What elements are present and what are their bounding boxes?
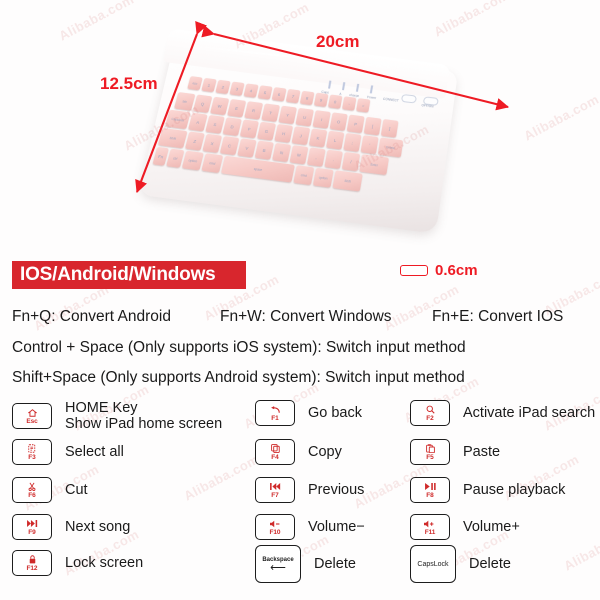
- fn-convert-android: Fn+Q: Convert Android: [12, 308, 220, 326]
- shortcut-label-primary: Copy: [308, 444, 342, 460]
- keycap-esc[interactable]: Esc: [12, 403, 52, 429]
- keycap-fn-label: F3: [28, 454, 35, 461]
- shortcut-row: F10Volume−: [255, 514, 365, 540]
- note-shift-space: Shift+Space (Only supports Android syste…: [12, 369, 465, 387]
- shortcut-description: Previous: [308, 482, 364, 498]
- copy-icon: [271, 444, 280, 454]
- dimension-width-label: 20cm: [316, 32, 359, 52]
- keycap-f11[interactable]: F11: [410, 514, 450, 540]
- keycap-fn-label: F7: [271, 492, 278, 499]
- shortcut-label-primary: HOME Key: [65, 400, 138, 416]
- shortcut-label-primary: Delete: [469, 556, 511, 572]
- shortcut-row: F4Copy: [255, 439, 342, 465]
- keycap-f8[interactable]: F8: [410, 477, 450, 503]
- shortcut-table: EscHOME KeyShow iPad home screenF3Select…: [0, 396, 600, 600]
- keycap-f1[interactable]: F1: [255, 400, 295, 426]
- shortcut-row: F6Cut: [12, 477, 88, 503]
- shortcut-label-primary: Pause playback: [463, 482, 565, 498]
- keycap-f5[interactable]: F5: [410, 439, 450, 465]
- shortcut-label-primary: Select all: [65, 444, 124, 460]
- shortcut-row: F1Go back: [255, 400, 362, 426]
- shortcut-row: F12Lock screen: [12, 550, 143, 576]
- shortcut-label-secondary: Show iPad home screen: [65, 416, 222, 432]
- keycap-fn-label: F5: [426, 454, 433, 461]
- keycap-f4[interactable]: F4: [255, 439, 295, 465]
- shortcut-row: F11Volume+: [410, 514, 520, 540]
- shortcut-row: Backspace⟵Delete: [255, 545, 356, 583]
- keycap-f10[interactable]: F10: [255, 514, 295, 540]
- shortcut-description: Copy: [308, 444, 342, 460]
- keycap-f9[interactable]: F9: [12, 514, 52, 540]
- shortcut-description: Lock screen: [65, 555, 143, 571]
- keycap-fn-label: F11: [425, 529, 436, 536]
- shortcut-label-primary: Go back: [308, 405, 362, 421]
- keycap-capslock[interactable]: CapsLock: [410, 545, 456, 583]
- shortcut-row: F7Previous: [255, 477, 364, 503]
- keycap-fn-label: F2: [426, 415, 433, 422]
- select-all-icon: [28, 444, 37, 454]
- previous-track-icon: [270, 482, 281, 492]
- shortcut-label-primary: Paste: [463, 444, 500, 460]
- home-icon: [28, 408, 37, 418]
- shortcut-label-primary: Next song: [65, 519, 130, 535]
- keycap-f3[interactable]: F3: [12, 439, 52, 465]
- scissors-cut-icon: [28, 482, 36, 492]
- dimension-arrows: [0, 0, 600, 262]
- shortcut-description: HOME KeyShow iPad home screen: [65, 400, 222, 432]
- os-compatibility-banner: IOS/Android/Windows: [12, 261, 246, 289]
- shortcut-label-primary: Volume+: [463, 519, 520, 535]
- keycap-backspace[interactable]: Backspace⟵: [255, 545, 301, 583]
- volume-down-icon: [270, 519, 281, 529]
- shortcut-description: Paste: [463, 444, 500, 460]
- shortcut-row: F5Paste: [410, 439, 500, 465]
- keycap-fn-label: Esc: [26, 418, 37, 425]
- keycap-fn-label: F4: [271, 454, 278, 461]
- shortcut-description: Delete: [469, 556, 511, 572]
- volume-up-icon: [424, 519, 436, 529]
- thickness-label: 0.6cm: [435, 262, 478, 279]
- paste-icon: [426, 444, 435, 454]
- shortcut-label-primary: Activate iPad search: [463, 405, 595, 421]
- backspace-arrow-icon: ⟵: [270, 564, 286, 573]
- thickness-bar-icon: [400, 265, 428, 276]
- shortcut-label-primary: Previous: [308, 482, 364, 498]
- shortcut-description: Volume−: [308, 519, 365, 535]
- dimension-height-label: 12.5cm: [100, 74, 158, 94]
- keycap-word: CapsLock: [417, 560, 448, 569]
- keycap-fn-label: F1: [271, 415, 278, 422]
- shortcut-label-primary: Lock screen: [65, 555, 143, 571]
- shortcut-description: Activate iPad search: [463, 405, 595, 421]
- thickness-callout: 0.6cm: [400, 262, 478, 279]
- shortcut-description: Delete: [314, 556, 356, 572]
- shortcut-label-primary: Volume−: [308, 519, 365, 535]
- play-pause-icon: [425, 482, 436, 492]
- shortcut-description: Next song: [65, 519, 130, 535]
- shortcut-label-primary: Delete: [314, 556, 356, 572]
- shortcut-description: Select all: [65, 444, 124, 460]
- shortcut-label-primary: Cut: [65, 482, 88, 498]
- keycap-fn-label: F9: [28, 529, 35, 536]
- keycap-f2[interactable]: F2: [410, 400, 450, 426]
- search-icon: [426, 405, 435, 415]
- shortcut-description: Go back: [308, 405, 362, 421]
- shortcut-row: F2Activate iPad search: [410, 400, 595, 426]
- keycap-f12[interactable]: F12: [12, 550, 52, 576]
- shortcut-row: F3Select all: [12, 439, 124, 465]
- keycap-fn-label: F8: [426, 492, 433, 499]
- note-control-space: Control + Space (Only supports iOS syste…: [12, 339, 466, 357]
- next-track-icon: [27, 519, 38, 529]
- shortcut-row: F9Next song: [12, 514, 130, 540]
- fn-convert-row: Fn+Q: Convert Android Fn+W: Convert Wind…: [12, 308, 592, 326]
- shortcut-row: F8Pause playback: [410, 477, 565, 503]
- fn-convert-ios: Fn+E: Convert IOS: [432, 308, 563, 326]
- back-arrow-icon: [270, 405, 280, 415]
- product-photo: Caps A charge Power CONNECT OFF/ON esc12…: [0, 0, 600, 262]
- shortcut-description: Cut: [65, 482, 88, 498]
- shortcut-row: EscHOME KeyShow iPad home screen: [12, 400, 222, 432]
- keycap-fn-label: F6: [28, 492, 35, 499]
- fn-convert-windows: Fn+W: Convert Windows: [220, 308, 432, 326]
- os-compatibility-label: IOS/Android/Windows: [12, 264, 216, 286]
- shortcut-description: Volume+: [463, 519, 520, 535]
- keycap-f6[interactable]: F6: [12, 477, 52, 503]
- keycap-fn-label: F10: [270, 529, 281, 536]
- shortcut-row: CapsLockDelete: [410, 545, 511, 583]
- shortcut-description: Pause playback: [463, 482, 565, 498]
- keycap-fn-label: F12: [27, 565, 38, 572]
- keycap-f7[interactable]: F7: [255, 477, 295, 503]
- lock-icon: [29, 555, 36, 565]
- product-infographic: Caps A charge Power CONNECT OFF/ON esc12…: [0, 0, 600, 600]
